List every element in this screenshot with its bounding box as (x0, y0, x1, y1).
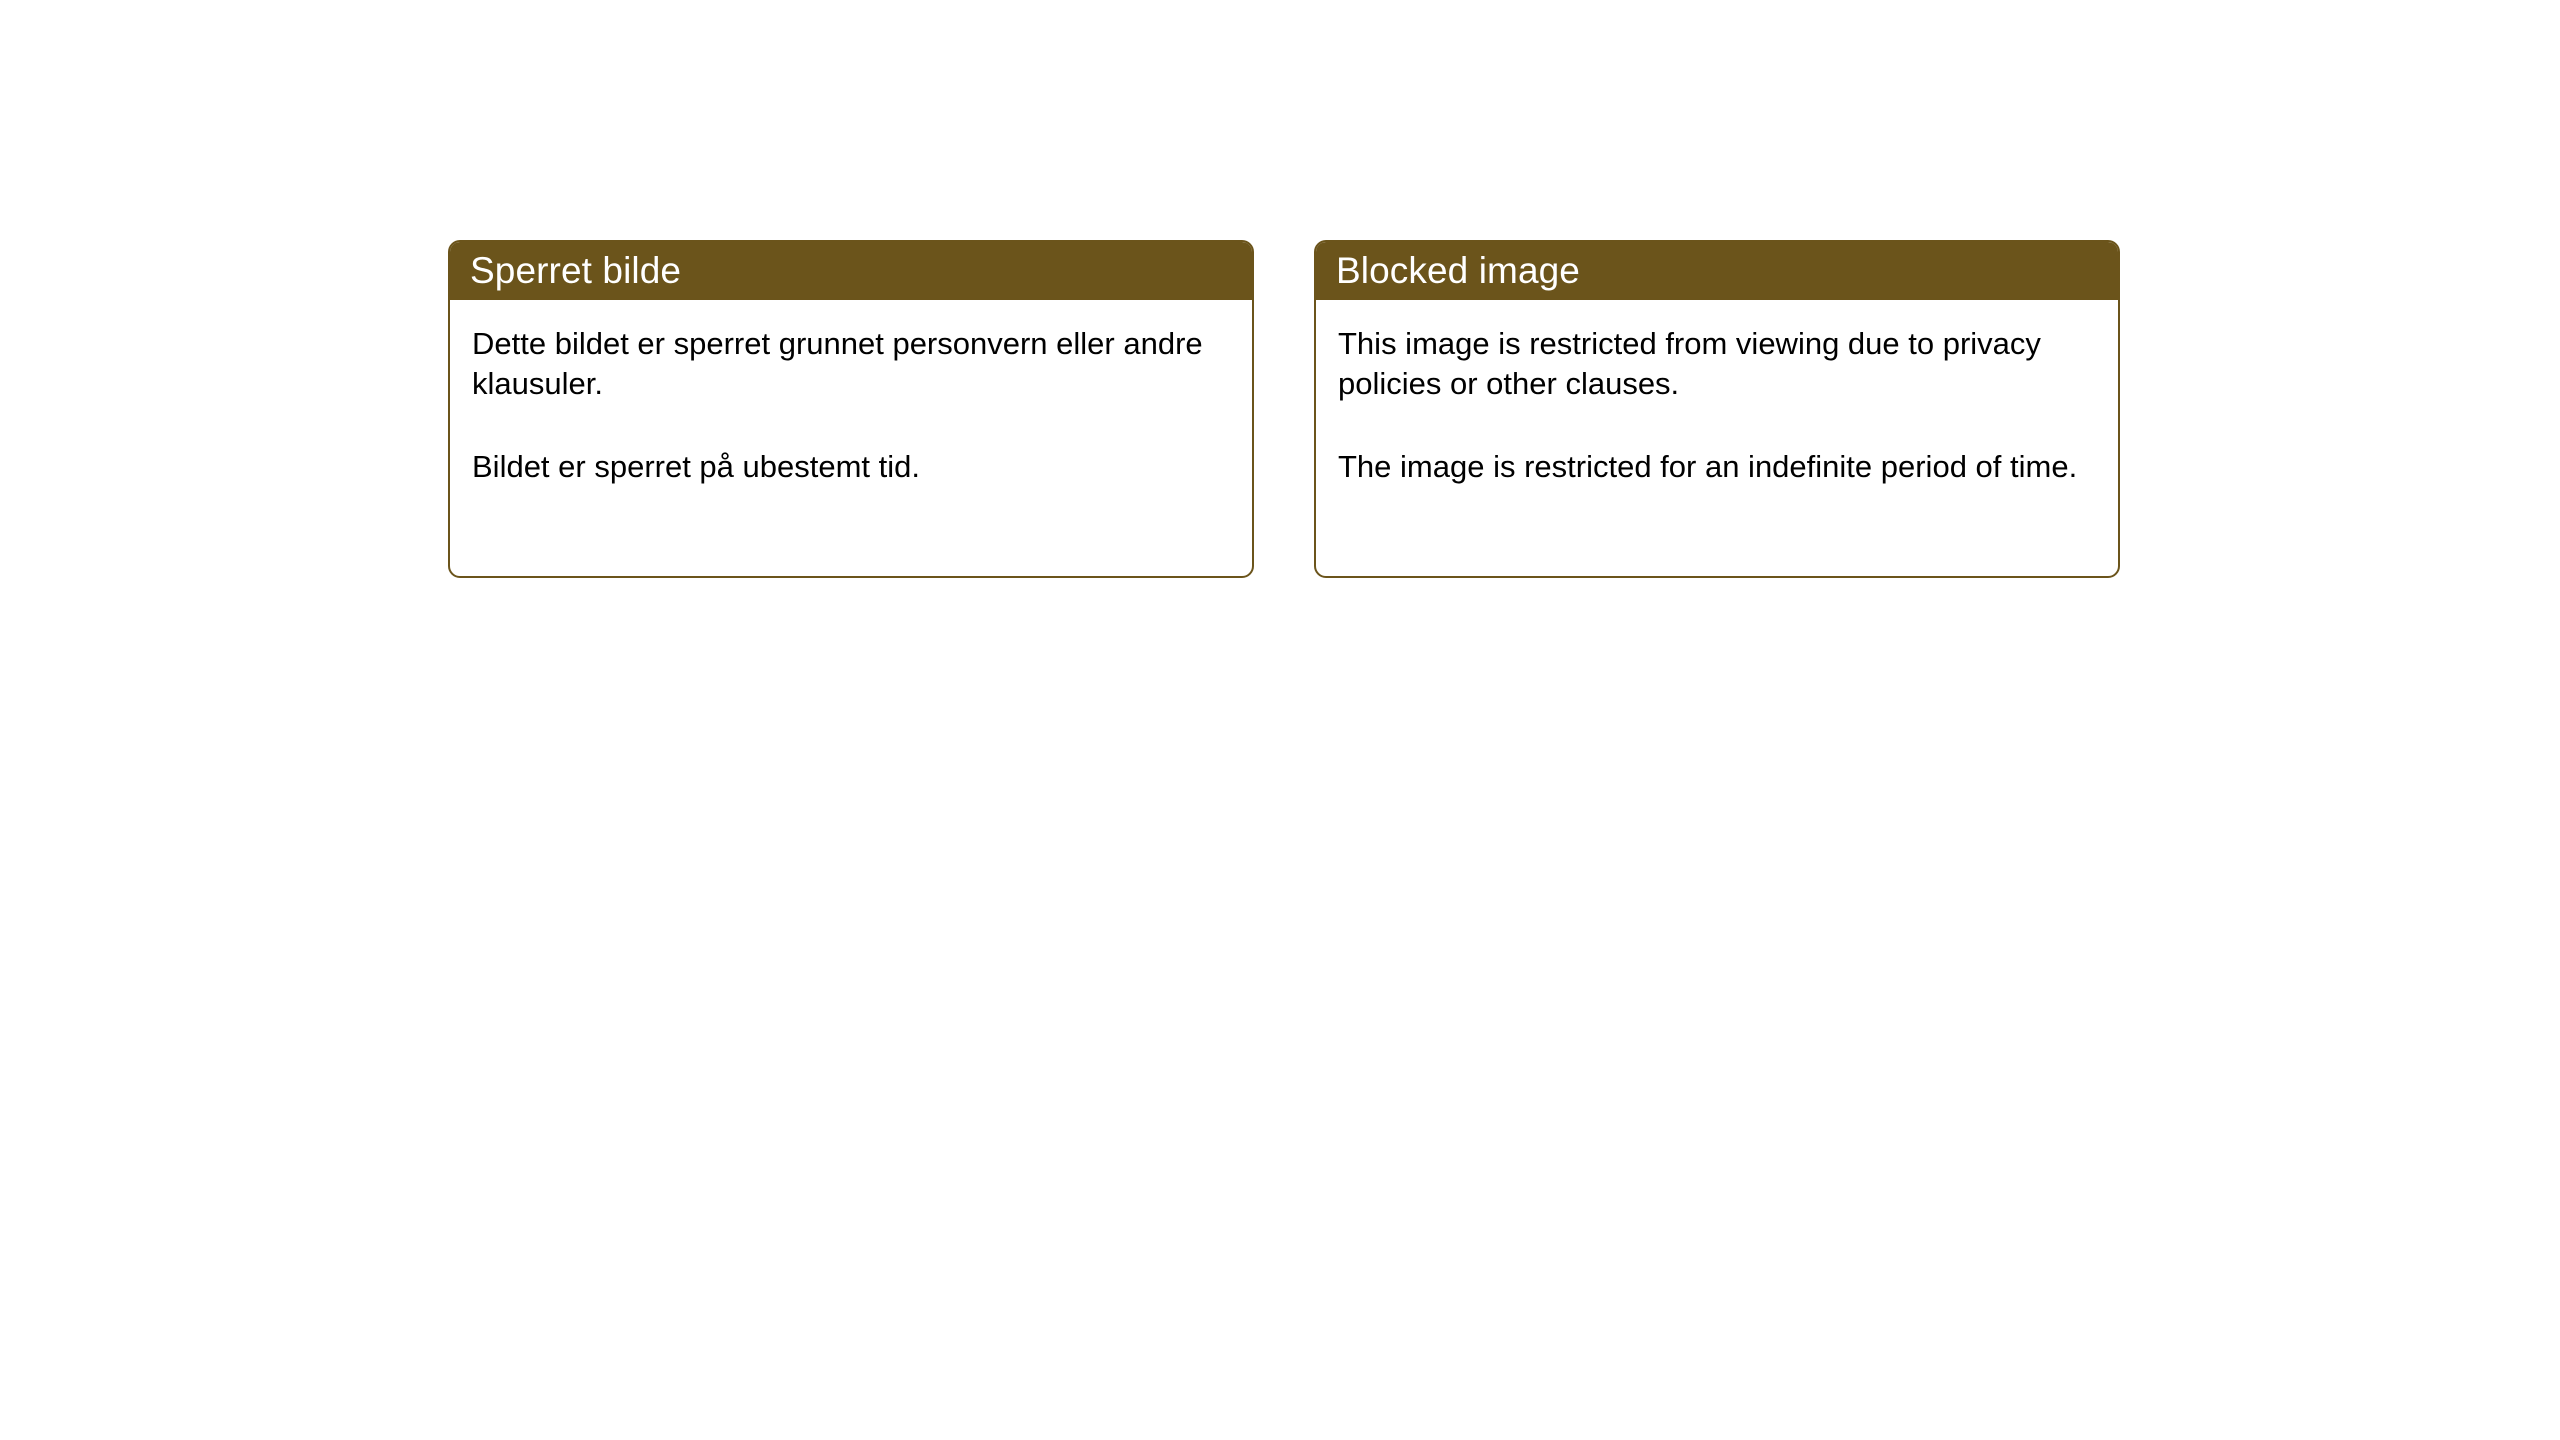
notice-card-row: Sperret bilde Dette bildet er sperret gr… (448, 240, 2120, 578)
card-title-english: Blocked image (1336, 252, 1580, 289)
card-body-norwegian: Dette bildet er sperret grunnet personve… (450, 300, 1252, 576)
card-paragraph-primary-norwegian: Dette bildet er sperret grunnet personve… (472, 324, 1226, 405)
blocked-image-card-norwegian: Sperret bilde Dette bildet er sperret gr… (448, 240, 1254, 578)
card-header-norwegian: Sperret bilde (448, 240, 1254, 300)
card-paragraph-primary-english: This image is restricted from viewing du… (1338, 324, 2092, 405)
page-canvas: Sperret bilde Dette bildet er sperret gr… (0, 0, 2560, 1440)
blocked-image-card-english: Blocked image This image is restricted f… (1314, 240, 2120, 578)
card-body-english: This image is restricted from viewing du… (1316, 300, 2118, 576)
card-paragraph-secondary-norwegian: Bildet er sperret på ubestemt tid. (472, 447, 1226, 487)
card-header-english: Blocked image (1314, 240, 2120, 300)
card-paragraph-secondary-english: The image is restricted for an indefinit… (1338, 447, 2092, 487)
card-title-norwegian: Sperret bilde (470, 252, 681, 289)
